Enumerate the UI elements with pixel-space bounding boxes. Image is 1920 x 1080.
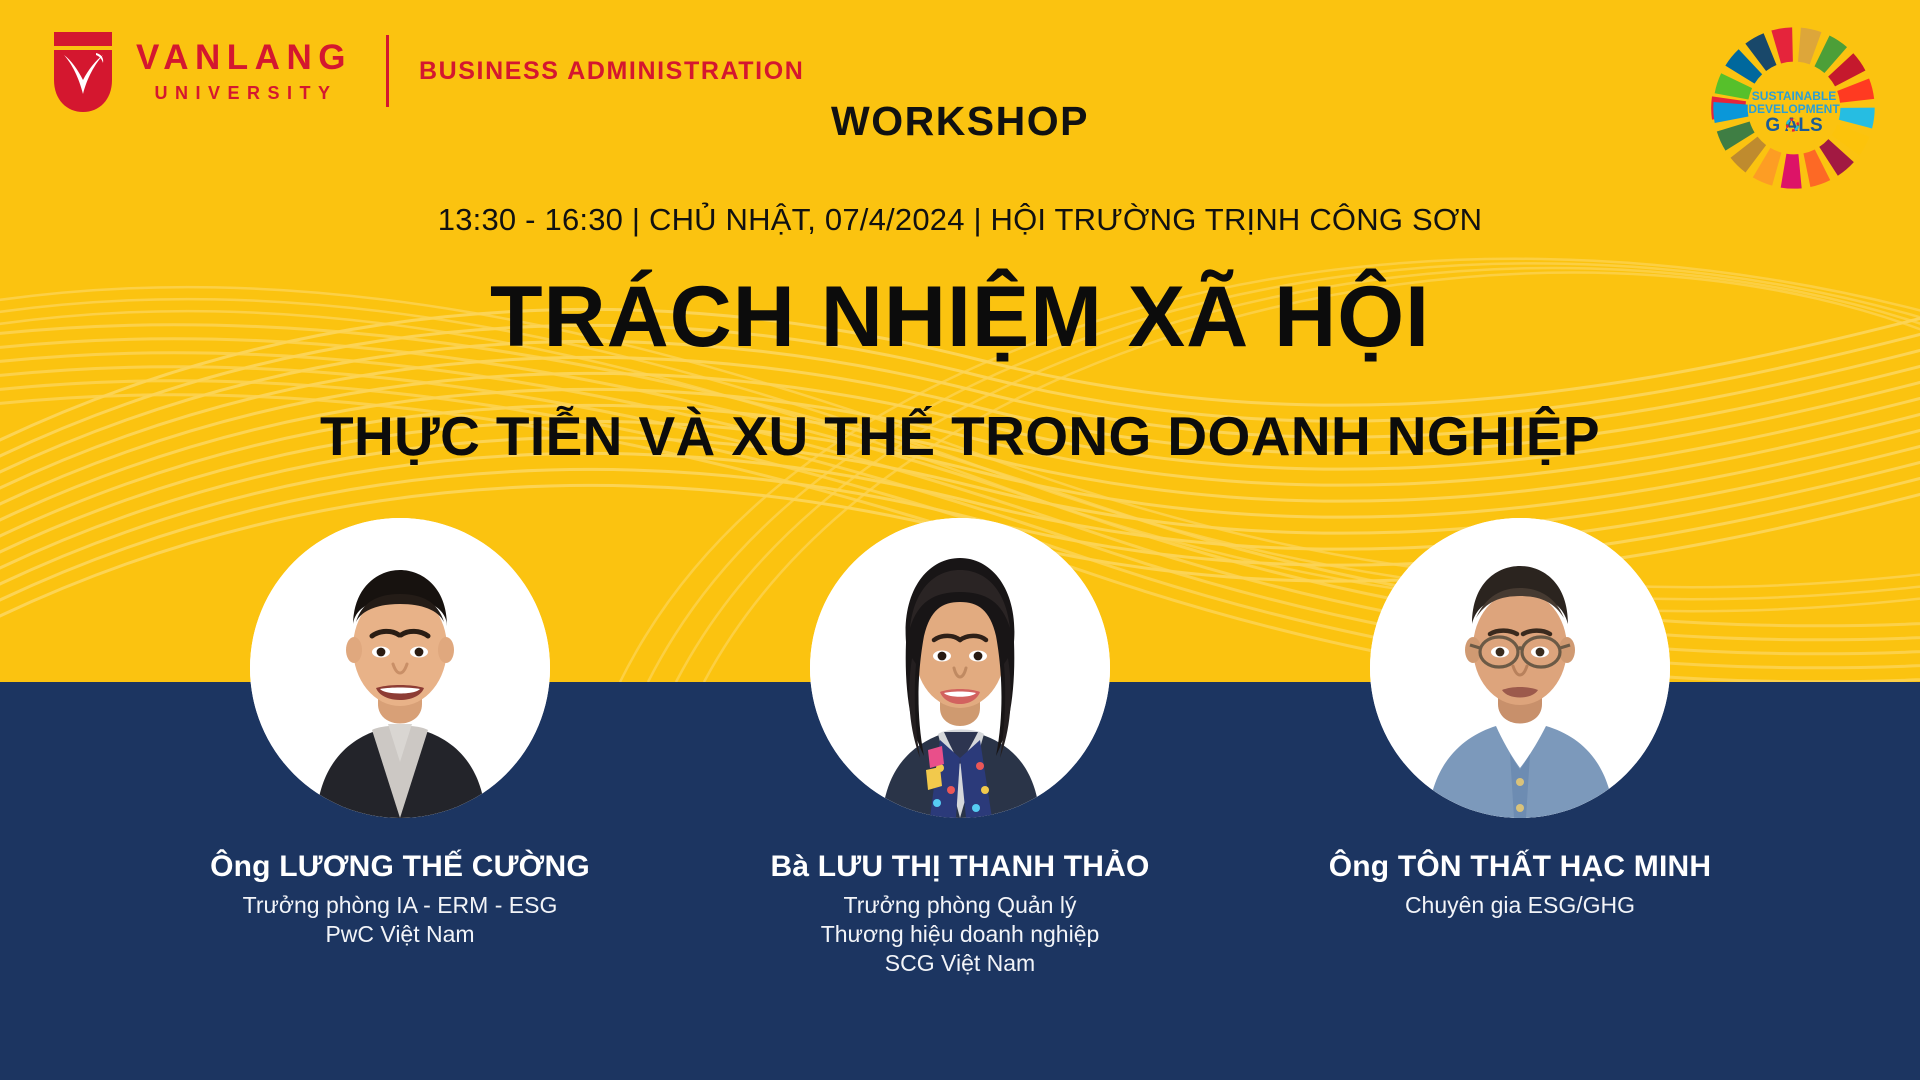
- avatar: [250, 518, 550, 818]
- speaker-name: Ông TÔN THẤT HẠC MINH: [1310, 850, 1730, 885]
- speakers-row: Ông LƯƠNG THẾ CƯỜNG Trưởng phòng IA - ER…: [0, 0, 1920, 1080]
- speaker-role-line: SCG Việt Nam: [750, 949, 1170, 978]
- speaker-role-line: Trưởng phòng IA - ERM - ESG: [190, 891, 610, 920]
- speaker-name: Ông LƯƠNG THẾ CƯỜNG: [190, 850, 610, 885]
- avatar: [810, 518, 1110, 818]
- speaker-role-line: Thương hiệu doanh nghiệp: [750, 920, 1170, 949]
- speaker-role-line: Chuyên gia ESG/GHG: [1310, 891, 1730, 920]
- speaker-role: Chuyên gia ESG/GHG: [1310, 891, 1730, 920]
- speaker-role: Trưởng phòng IA - ERM - ESG PwC Việt Nam: [190, 891, 610, 950]
- avatar: [1370, 518, 1670, 818]
- speaker-name: Bà LƯU THỊ THANH THẢO: [750, 850, 1170, 885]
- workshop-poster: VANLANG UNIVERSITY BUSINESS ADMINISTRATI…: [0, 0, 1920, 1080]
- speaker-role-line: PwC Việt Nam: [190, 920, 610, 949]
- speaker-role-line: Trưởng phòng Quản lý: [750, 891, 1170, 920]
- speaker-card: Bà LƯU THỊ THANH THẢO Trưởng phòng Quản …: [750, 518, 1170, 979]
- speaker-card: Ông LƯƠNG THẾ CƯỜNG Trưởng phòng IA - ER…: [190, 518, 610, 949]
- speaker-role: Trưởng phòng Quản lý Thương hiệu doanh n…: [750, 891, 1170, 979]
- speaker-card: Ông TÔN THẤT HẠC MINH Chuyên gia ESG/GHG: [1310, 518, 1730, 920]
